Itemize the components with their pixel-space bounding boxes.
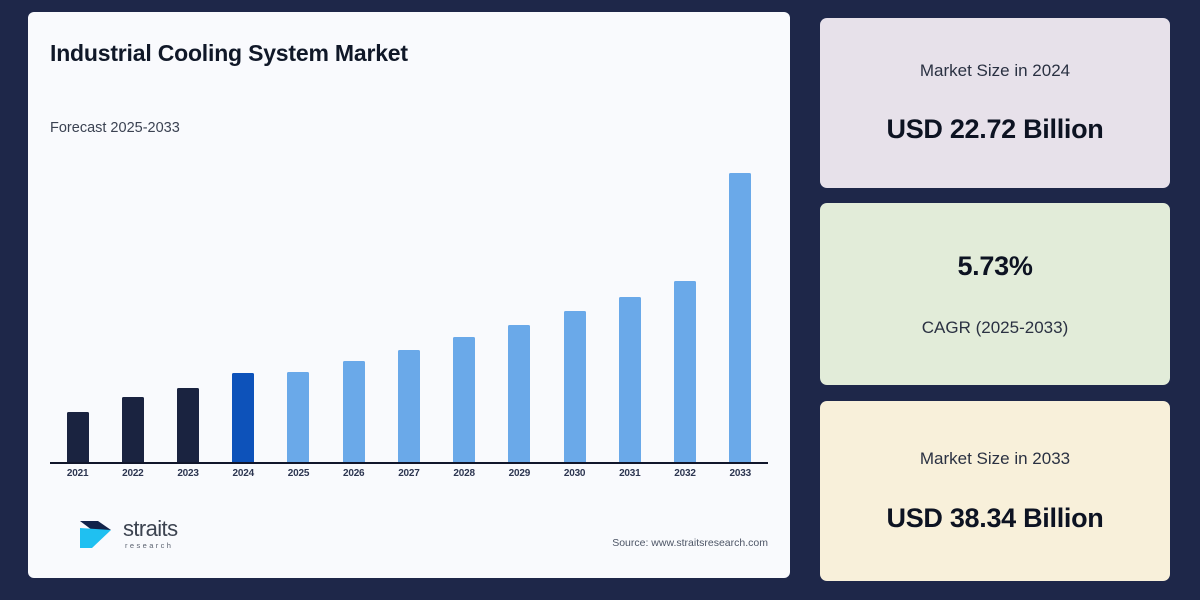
chart-panel: Industrial Cooling System Market Forecas… — [28, 12, 790, 578]
stat-card-label: Market Size in 2024 — [920, 61, 1070, 81]
bar-2022[interactable] — [122, 397, 144, 462]
bar-2028[interactable] — [453, 337, 475, 462]
stat-card-label: CAGR (2025-2033) — [922, 318, 1068, 338]
stat-card-value: 5.73% — [957, 251, 1032, 282]
bar-slot — [50, 150, 105, 462]
bar-slot — [105, 150, 160, 462]
bar-2031[interactable] — [619, 297, 641, 462]
x-axis-label-2032: 2032 — [658, 468, 713, 479]
x-axis-label-2023: 2023 — [161, 468, 216, 479]
x-axis-label-2027: 2027 — [381, 468, 436, 479]
bar-slot — [713, 150, 768, 462]
bar-2029[interactable] — [508, 325, 530, 462]
stat-card-market-size-2024: Market Size in 2024 USD 22.72 Billion — [820, 18, 1170, 188]
x-axis-label-2028: 2028 — [437, 468, 492, 479]
stat-card-cagr: 5.73% CAGR (2025-2033) — [820, 203, 1170, 385]
bar-2030[interactable] — [564, 311, 586, 462]
bar-2033[interactable] — [729, 173, 751, 462]
bar-2026[interactable] — [343, 361, 365, 462]
x-axis-label-2031: 2031 — [602, 468, 657, 479]
x-axis-label-2025: 2025 — [271, 468, 326, 479]
bar-2024[interactable] — [232, 373, 254, 462]
bar-2027[interactable] — [398, 350, 420, 462]
x-axis-label-2022: 2022 — [105, 468, 160, 479]
x-axis-label-2024: 2024 — [216, 468, 271, 479]
brand-logo: straits research — [78, 517, 177, 551]
bar-2032[interactable] — [674, 281, 696, 462]
bar-2023[interactable] — [177, 388, 199, 462]
x-axis-line — [50, 462, 768, 464]
x-axis-label-2021: 2021 — [50, 468, 105, 479]
bar-slot — [161, 150, 216, 462]
bar-slot — [602, 150, 657, 462]
x-axis-label-2033: 2033 — [713, 468, 768, 479]
stat-card-market-size-2033: Market Size in 2033 USD 38.34 Billion — [820, 401, 1170, 581]
brand-logo-text: straits research — [123, 518, 177, 550]
bar-slot — [216, 150, 271, 462]
straits-arrow-logo-icon — [78, 517, 116, 551]
bar-slot — [658, 150, 713, 462]
bar-2021[interactable] — [67, 412, 89, 462]
stat-card-value: USD 38.34 Billion — [887, 503, 1104, 534]
bar-slot — [437, 150, 492, 462]
page-title: Industrial Cooling System Market — [50, 40, 408, 67]
source-attribution: Source: www.straitsresearch.com — [612, 537, 768, 549]
brand-name: straits — [123, 518, 177, 540]
x-axis-label-2026: 2026 — [326, 468, 381, 479]
stat-card-value: USD 22.72 Billion — [887, 114, 1104, 145]
bar-slot — [326, 150, 381, 462]
chart-subtitle: Forecast 2025-2033 — [50, 120, 180, 136]
brand-tagline: research — [125, 542, 173, 550]
x-axis-labels: 2021202220232024202520262027202820292030… — [50, 468, 768, 479]
x-axis-label-2030: 2030 — [547, 468, 602, 479]
stat-card-label: Market Size in 2033 — [920, 449, 1070, 469]
bar-slot — [381, 150, 436, 462]
x-axis-label-2029: 2029 — [492, 468, 547, 479]
bar-2025[interactable] — [287, 372, 309, 462]
bar-chart-bars — [50, 150, 768, 462]
bar-slot — [492, 150, 547, 462]
bar-slot — [547, 150, 602, 462]
bar-slot — [271, 150, 326, 462]
